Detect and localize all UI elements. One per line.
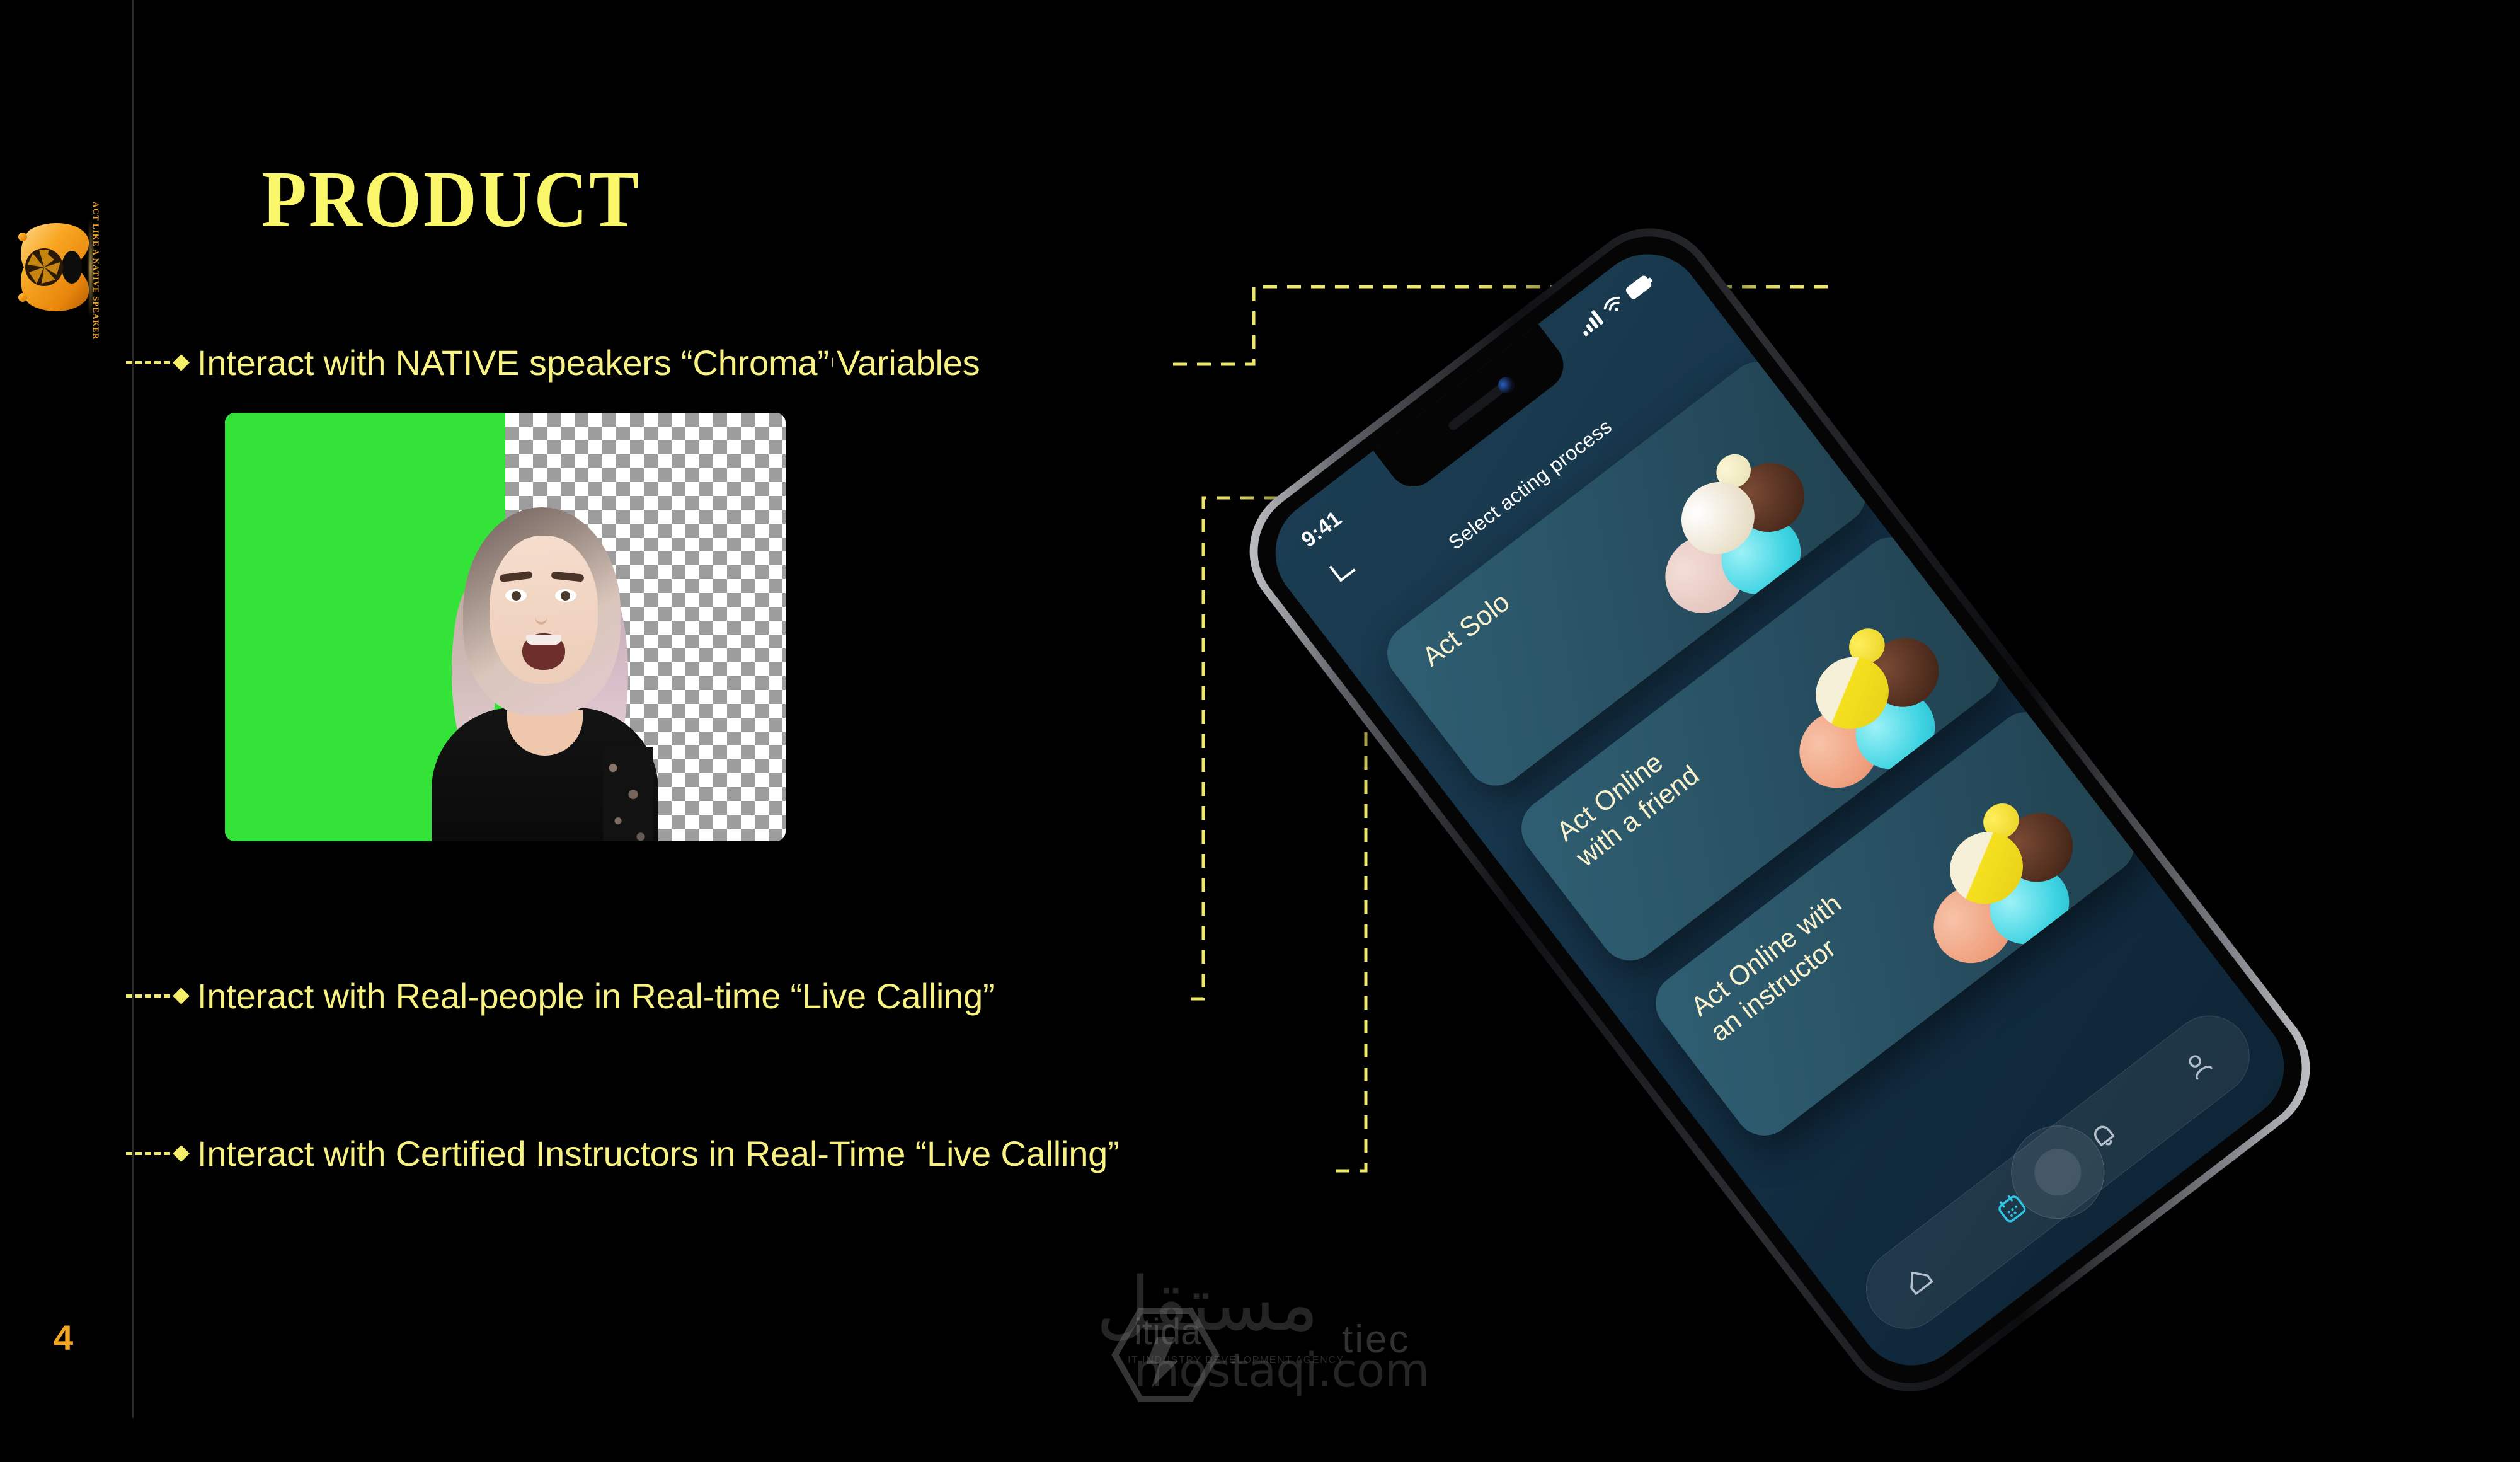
- dash-connector-line: [126, 361, 170, 364]
- bullet-label-2: Interact with Real-people in Real-time “…: [197, 976, 995, 1016]
- bullet-label-1b: Variables: [837, 342, 980, 383]
- card-label-1: Act Solo: [1416, 586, 1516, 673]
- back-arrow-icon[interactable]: [1329, 556, 1356, 582]
- status-time: 9:41: [1297, 506, 1346, 553]
- phone-device: 9:41 Select acting process: [1222, 201, 2337, 1419]
- dash-connector-line: [126, 994, 170, 998]
- phone-mockup-stage: 9:41 Select acting process: [1216, 120, 2413, 1355]
- wifi-icon: [1600, 292, 1627, 318]
- theater-mask-aperture-icon: [18, 214, 100, 321]
- page-number: 4: [54, 1317, 73, 1358]
- brand-tagline: ACT LIKE A NATIVE SPEAKER: [89, 202, 101, 334]
- itida-watermark-sublabel: IT INDUSTRY DEVELOPMENT AGENCY: [1128, 1355, 1344, 1366]
- card-label-3: Act Online with an instructor: [1685, 888, 1867, 1049]
- phone-screen: 9:41 Select acting process: [1253, 232, 2306, 1388]
- bullet-item-1: Interact with NATIVE speakers “Chroma” |…: [126, 343, 980, 381]
- page-title: PRODUCT: [261, 159, 641, 239]
- home-icon[interactable]: [1895, 1257, 1941, 1303]
- diamond-bullet-icon: [173, 1145, 190, 1162]
- itida-watermark-label: itida: [1134, 1311, 1201, 1353]
- profile-icon[interactable]: [2175, 1042, 2221, 1088]
- chroma-key-demo-image: [225, 413, 786, 841]
- bullet-label-1: Interact with NATIVE speakers “Chroma”: [197, 342, 829, 383]
- avatar-group-3: [1877, 760, 2138, 1011]
- presenter-photo: [414, 507, 679, 841]
- diamond-bullet-icon: [173, 987, 190, 1004]
- phone-frame: 9:41 Select acting process: [1222, 201, 2337, 1419]
- bullet-item-2: Interact with Real-people in Real-time “…: [126, 977, 995, 1015]
- battery-icon: [1625, 274, 1653, 301]
- cellular-signal-icon: [1576, 310, 1603, 337]
- bullet-item-3: Interact with Certified Instructors in R…: [126, 1134, 1120, 1172]
- status-icons: [1576, 272, 1652, 337]
- dash-connector-line: [126, 1152, 170, 1155]
- bottom-navigation-bar: [1850, 999, 2265, 1345]
- bullet-label-3: Interact with Certified Instructors in R…: [197, 1133, 1120, 1174]
- card-label-2: Act Online with a friend: [1550, 734, 1705, 873]
- brand-logo: ACT LIKE A NATIVE SPEAKER: [11, 189, 137, 340]
- phone-bezel: 9:41 Select acting process: [1233, 212, 2327, 1408]
- diamond-bullet-icon: [173, 354, 190, 371]
- bullet-separator-1: |: [829, 357, 837, 368]
